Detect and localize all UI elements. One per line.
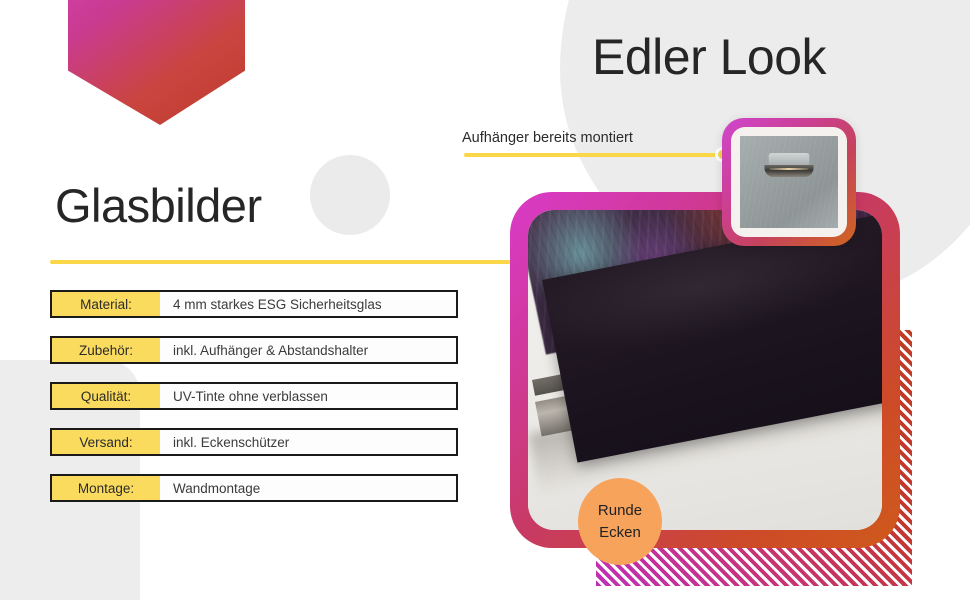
hanger-bracket xyxy=(765,153,814,181)
table-row: Qualität: UV-Tinte ohne verblassen xyxy=(50,382,458,410)
table-row: Material: 4 mm starkes ESG Sicherheitsgl… xyxy=(50,290,458,318)
hanger-detail-inset xyxy=(722,118,856,246)
callout-label: Aufhänger bereits montiert xyxy=(462,130,633,146)
product-photo xyxy=(528,210,882,530)
spec-key: Material: xyxy=(52,292,160,316)
table-row: Montage: Wandmontage xyxy=(50,474,458,502)
spec-value: inkl. Eckenschützer xyxy=(160,430,456,454)
spec-key: Zubehör: xyxy=(52,338,160,362)
hanger-slot xyxy=(765,165,814,177)
connector-line-callout xyxy=(464,153,722,157)
background-blob-circle xyxy=(310,155,390,235)
product-photo-frame xyxy=(510,192,900,548)
spec-key: Montage: xyxy=(52,476,160,500)
wall-hanger-icon xyxy=(740,136,838,228)
spec-value: 4 mm starkes ESG Sicherheitsglas xyxy=(160,292,456,316)
status-badge: Runde Ecken xyxy=(578,478,662,565)
connector-line-main xyxy=(50,260,528,264)
hanger-highlight xyxy=(769,168,808,170)
spec-value: UV-Tinte ohne verblassen xyxy=(160,384,456,408)
hanger-inset-matte xyxy=(731,127,847,237)
spec-value: inkl. Aufhänger & Abstandshalter xyxy=(160,338,456,362)
table-row: Versand: inkl. Eckenschützer xyxy=(50,428,458,456)
table-row: Zubehör: inkl. Aufhänger & Abstandshalte… xyxy=(50,336,458,364)
badge-line-1: Runde xyxy=(598,500,642,521)
banner-canvas: Glasbilder Edler Look Aufhänger bereits … xyxy=(0,0,970,600)
spec-value: Wandmontage xyxy=(160,476,456,500)
badge-line-2: Ecken xyxy=(599,522,641,543)
secondary-title: Edler Look xyxy=(592,28,826,86)
spec-key: Qualität: xyxy=(52,384,160,408)
shield-logo-icon xyxy=(68,0,245,125)
spec-table: Material: 4 mm starkes ESG Sicherheitsgl… xyxy=(50,290,458,520)
page-title: Glasbilder xyxy=(55,178,262,233)
spec-key: Versand: xyxy=(52,430,160,454)
